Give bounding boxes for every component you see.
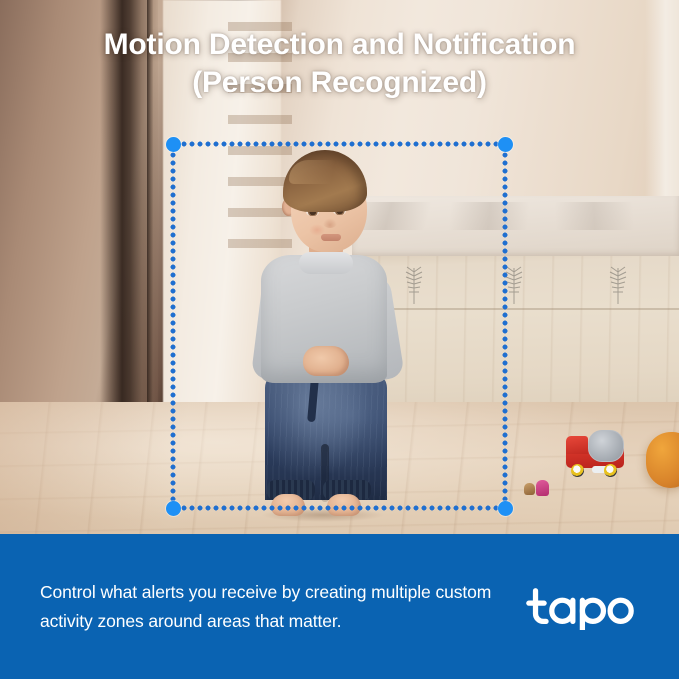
toy-figure (524, 483, 535, 495)
bare-foot (271, 494, 305, 516)
nose (323, 218, 337, 228)
truck-wheel (604, 464, 617, 477)
truck-cab (566, 436, 588, 454)
camera-view-scene: Motion Detection and Notification (Perso… (0, 0, 679, 534)
toddler-subject (247, 150, 407, 510)
truck-wheel (571, 464, 584, 477)
feather-decal (404, 262, 424, 304)
tapo-logo (525, 584, 635, 630)
floor-left-shading (0, 402, 200, 534)
toy-fire-truck (566, 430, 626, 476)
bare-foot (327, 494, 361, 516)
truck-tank (588, 430, 624, 462)
feather-decal (608, 262, 628, 304)
title-line-2: (Person Recognized) (0, 64, 679, 102)
description-banner: Control what alerts you receive by creat… (0, 534, 679, 679)
page-title: Motion Detection and Notification (Perso… (0, 26, 679, 102)
promo-image: Motion Detection and Notification (Perso… (0, 0, 679, 679)
mouth (321, 234, 341, 241)
toy-figure (536, 480, 549, 496)
banner-description: Control what alerts you receive by creat… (40, 578, 500, 635)
small-toy-figures (524, 480, 550, 496)
feather-decal (504, 262, 524, 304)
clasped-hands (303, 346, 349, 376)
title-line-1: Motion Detection and Notification (0, 26, 679, 64)
hair (283, 150, 367, 212)
sweater-collar (299, 252, 353, 274)
